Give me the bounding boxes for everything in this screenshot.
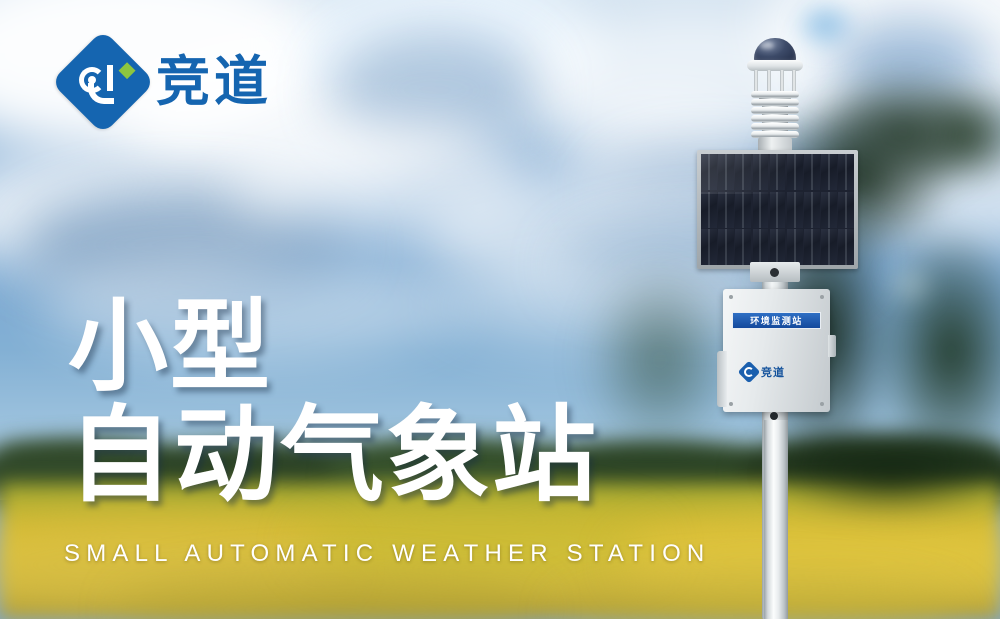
box-brand-logo: 竞道 [741, 363, 813, 381]
box-brand-label: 竞道 [761, 364, 785, 380]
headline-line-1: 小型 [68, 296, 598, 398]
pole-lower-segment-icon [764, 420, 788, 619]
solar-panel-icon [697, 150, 858, 269]
box-screw-icon [729, 295, 733, 299]
box-banner-label: 环境监测站 [750, 314, 803, 327]
promo-banner: 环境监测站 竞道 竞道 小型 自动气象站 SMALL AUTOMATIC WEA [0, 0, 1000, 619]
jingdao-diamond-logo-icon [51, 30, 156, 135]
box-screw-icon [820, 402, 824, 406]
box-banner: 环境监测站 [732, 312, 821, 329]
headline-subtitle: SMALL AUTOMATIC WEATHER STATION [64, 540, 710, 568]
brand-name: 竞道 [156, 55, 272, 109]
bracket-bolt-icon [770, 268, 779, 277]
headline-line-2: 自动气象站 [68, 402, 598, 508]
solar-cells [701, 154, 854, 265]
ultrasonic-weather-sensor-icon [744, 38, 806, 154]
box-mount-bolt-icon [770, 412, 778, 420]
brand-logo: 竞道 [66, 45, 272, 119]
control-box: 环境监测站 竞道 [723, 289, 830, 412]
radiation-shield-icon [751, 91, 799, 139]
box-latch-icon [828, 335, 836, 357]
jingdao-diamond-logo-icon [738, 361, 761, 384]
box-screw-icon [729, 402, 733, 406]
box-hinge-icon [717, 351, 727, 407]
box-screw-icon [820, 295, 824, 299]
headline-block: 小型 自动气象站 [68, 296, 598, 508]
